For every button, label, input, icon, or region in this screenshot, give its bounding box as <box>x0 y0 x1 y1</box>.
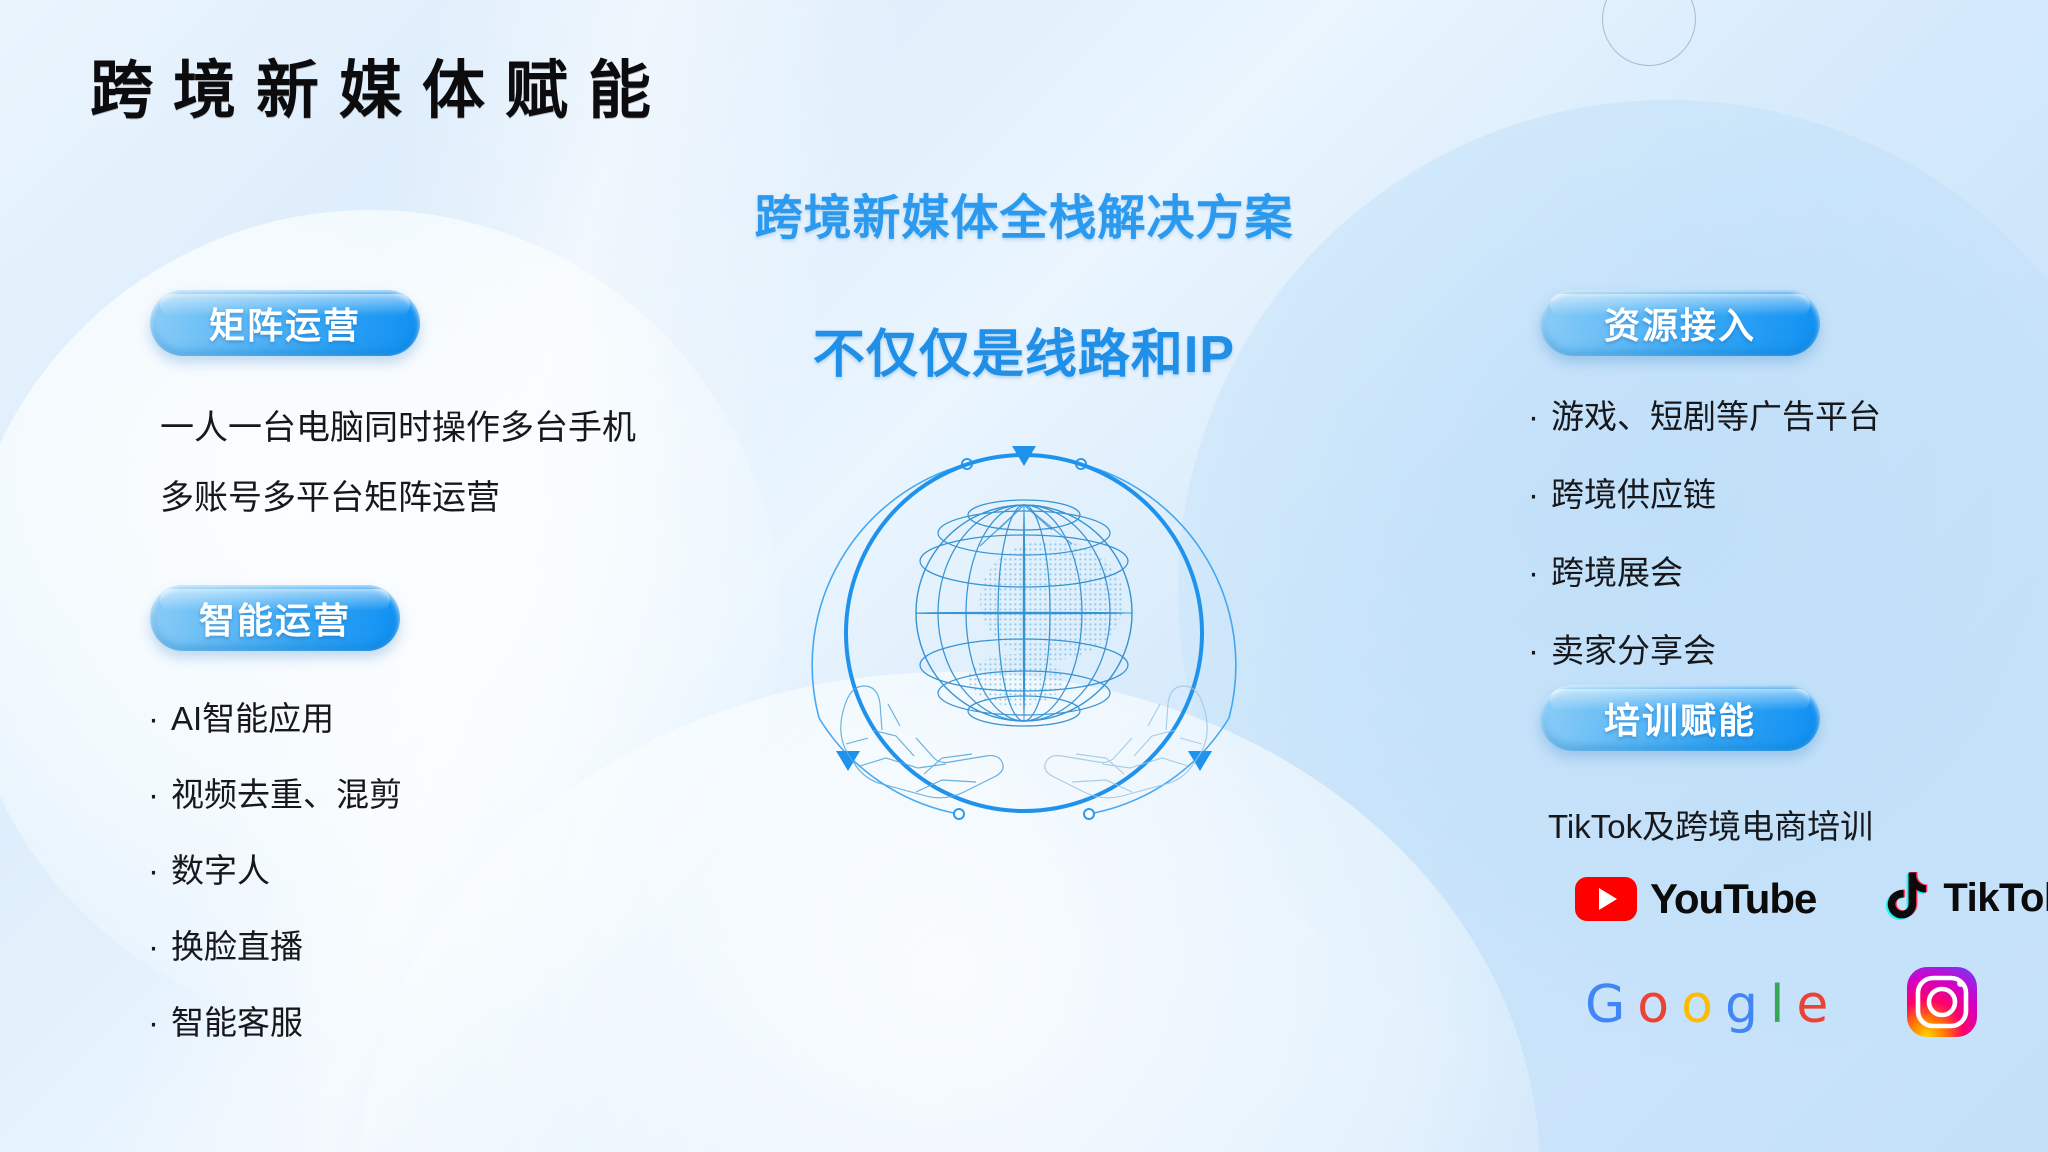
bullet-icon: · <box>148 928 159 966</box>
list-item: ·跨境展会 <box>1528 546 1881 594</box>
bullet-icon: · <box>148 700 159 738</box>
list-item-label: 视频去重、混剪 <box>171 776 402 813</box>
training-note: TikTok及跨境电商培训 <box>1548 800 1873 848</box>
list-item-label: 游戏、短剧等广告平台 <box>1551 398 1881 435</box>
logo-youtube-label: YouTube <box>1650 875 1816 923</box>
list-item-label: 跨境展会 <box>1551 554 1683 591</box>
logo-youtube[interactable]: YouTube <box>1575 875 1816 923</box>
logo-google-letter-6: e <box>1796 975 1827 1035</box>
list-item-label: AI智能应用 <box>171 700 334 737</box>
youtube-play-icon <box>1575 877 1637 921</box>
list-item: ·换脸直播 <box>148 920 402 968</box>
logo-instagram[interactable] <box>1905 965 1979 1044</box>
pill-resource-access-label: 资源接入 <box>1604 297 1756 349</box>
bullet-icon: · <box>148 1004 159 1042</box>
tiktok-note-icon <box>1884 870 1930 927</box>
logo-google-letter-3: o <box>1681 975 1712 1035</box>
bullet-icon: · <box>1528 476 1539 514</box>
logo-tiktok-label: TikTok <box>1943 876 2048 921</box>
decorative-circle-icon <box>1602 0 1696 66</box>
pill-smart-operations[interactable]: 智能运营 <box>150 585 400 651</box>
list-item-label: 换脸直播 <box>171 928 303 965</box>
pill-matrix-operations[interactable]: 矩阵运营 <box>150 290 420 356</box>
list-item: ·跨境供应链 <box>1528 468 1881 516</box>
matrix-line-2: 多账号多平台矩阵运营 <box>160 470 500 519</box>
list-item: ·数字人 <box>148 844 402 892</box>
pill-training-empowerment-label: 培训赋能 <box>1604 692 1756 744</box>
list-item: ·视频去重、混剪 <box>148 768 402 816</box>
bullet-icon: · <box>148 776 159 814</box>
headline-primary: 跨境新媒体全栈解决方案 <box>0 178 2048 248</box>
bullet-icon: · <box>1528 398 1539 436</box>
list-item-label: 智能客服 <box>171 1004 303 1041</box>
logo-tiktok[interactable]: TikTok <box>1884 870 2048 927</box>
bullet-icon: · <box>1528 632 1539 670</box>
logo-google-letter-1: G <box>1585 975 1624 1035</box>
list-item-label: 跨境供应链 <box>1551 476 1716 513</box>
pill-matrix-operations-label: 矩阵运营 <box>209 297 361 349</box>
pill-training-empowerment[interactable]: 培训赋能 <box>1540 685 1820 751</box>
bullet-icon: · <box>1528 554 1539 592</box>
list-item: ·游戏、短剧等广告平台 <box>1528 390 1881 438</box>
logo-google-letter-5: l <box>1770 975 1783 1035</box>
logo-google[interactable]: Google <box>1585 975 1827 1035</box>
logo-google-letter-2: o <box>1637 975 1668 1035</box>
pill-smart-operations-label: 智能运营 <box>199 592 351 644</box>
globe-in-hands-illustration <box>784 418 1264 838</box>
logo-google-letter-4: g <box>1725 975 1757 1035</box>
list-item-label: 数字人 <box>171 852 270 889</box>
resource-access-list: ·游戏、短剧等广告平台 ·跨境供应链 ·跨境展会 ·卖家分享会 <box>1528 390 1881 702</box>
list-item: ·智能客服 <box>148 996 402 1044</box>
slide-root: 跨境新媒体赋能 跨境新媒体全栈解决方案 不仅仅是线路和IP 矩阵运营 一人一台电… <box>0 0 2048 1152</box>
logo-row-secondary: Google <box>1585 965 1979 1044</box>
bullet-icon: · <box>148 852 159 890</box>
list-item: ·AI智能应用 <box>148 692 402 740</box>
instagram-camera-icon <box>1905 965 1979 1044</box>
smart-operations-list: ·AI智能应用 ·视频去重、混剪 ·数字人 ·换脸直播 ·智能客服 <box>148 692 402 1072</box>
pill-resource-access[interactable]: 资源接入 <box>1540 290 1820 356</box>
page-title: 跨境新媒体赋能 <box>90 40 671 131</box>
list-item-label: 卖家分享会 <box>1551 632 1716 669</box>
matrix-line-1: 一人一台电脑同时操作多台手机 <box>160 400 636 449</box>
list-item: ·卖家分享会 <box>1528 624 1881 672</box>
logo-row-primary: YouTube TikTok <box>1575 870 2048 927</box>
